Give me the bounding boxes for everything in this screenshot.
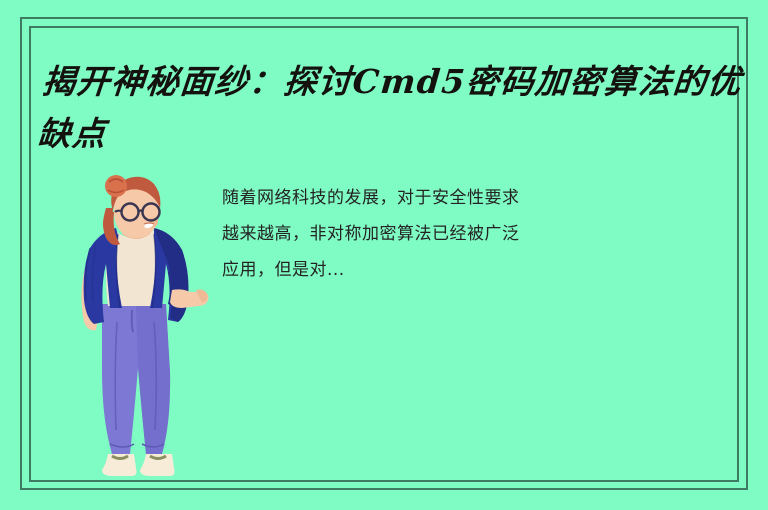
pants-shape (102, 304, 170, 454)
poster-canvas: 揭开神秘面纱：探讨Cmd5密码加密算法的优缺点 随着网络科技的发展，对于安全性要… (0, 0, 768, 510)
shoes-shape (102, 454, 175, 476)
illustration-figure (62, 172, 210, 484)
article-excerpt: 随着网络科技的发展，对于安全性要求越来越高，非对称加密算法已经被广泛应用，但是对… (222, 180, 534, 288)
page-title: 揭开神秘面纱：探讨Cmd5密码加密算法的优缺点 (35, 56, 744, 160)
